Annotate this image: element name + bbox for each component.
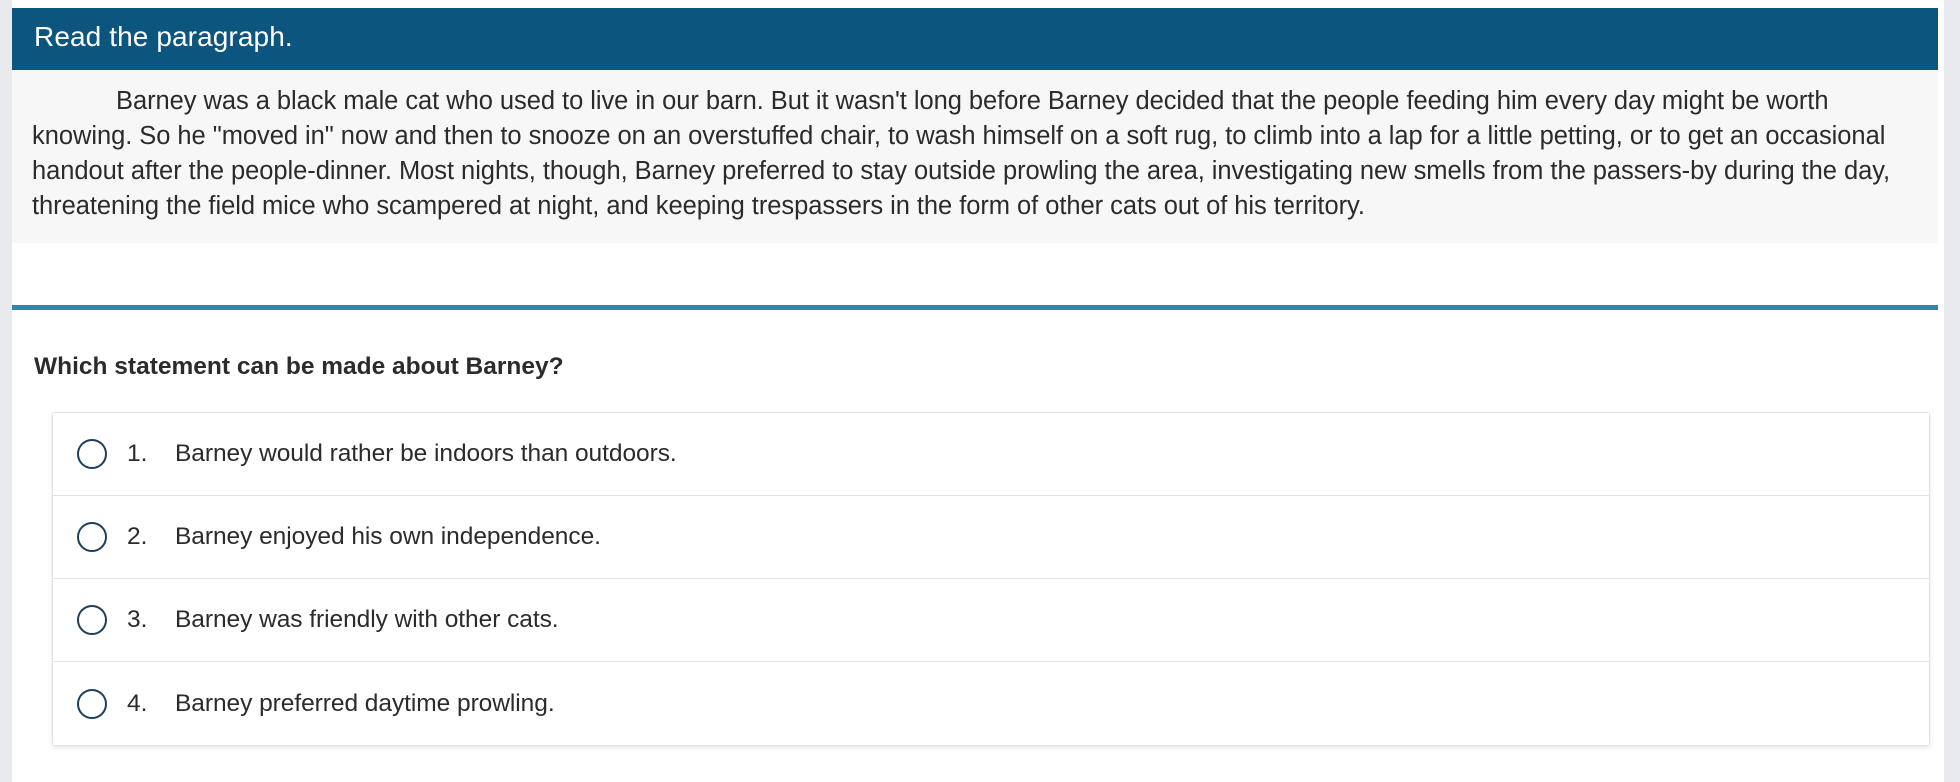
question-page: Read the paragraph. Barney was a black m… [0, 0, 1960, 782]
answer-options-list: 1. Barney would rather be indoors than o… [52, 412, 1930, 746]
question-area: Which statement can be made about Barney… [12, 310, 1938, 746]
left-gutter [0, 0, 12, 782]
option-number: 3. [127, 606, 155, 634]
passage-body: Barney was a black male cat who used to … [12, 70, 1938, 243]
answer-option-1[interactable]: 1. Barney would rather be indoors than o… [53, 413, 1929, 496]
option-label: Barney enjoyed his own independence. [175, 523, 601, 551]
option-number: 2. [127, 523, 155, 551]
right-gutter [1944, 0, 1960, 782]
passage-card: Read the paragraph. Barney was a black m… [12, 8, 1938, 243]
passage-header-title: Read the paragraph. [12, 8, 1938, 70]
option-number: 1. [127, 440, 155, 468]
answer-option-4[interactable]: 4. Barney preferred daytime prowling. [53, 662, 1929, 745]
radio-unchecked-icon[interactable] [77, 689, 107, 719]
content-area: Read the paragraph. Barney was a black m… [12, 0, 1944, 782]
radio-unchecked-icon[interactable] [77, 605, 107, 635]
answer-option-2[interactable]: 2. Barney enjoyed his own independence. [53, 496, 1929, 579]
option-number: 4. [127, 690, 155, 718]
option-label: Barney would rather be indoors than outd… [175, 440, 677, 468]
option-label: Barney preferred daytime prowling. [175, 690, 555, 718]
radio-unchecked-icon[interactable] [77, 522, 107, 552]
option-label: Barney was friendly with other cats. [175, 606, 559, 634]
answer-option-3[interactable]: 3. Barney was friendly with other cats. [53, 579, 1929, 662]
question-stem: Which statement can be made about Barney… [12, 310, 1938, 381]
passage-paragraph: Barney was a black male cat who used to … [32, 84, 1920, 225]
radio-unchecked-icon[interactable] [77, 439, 107, 469]
